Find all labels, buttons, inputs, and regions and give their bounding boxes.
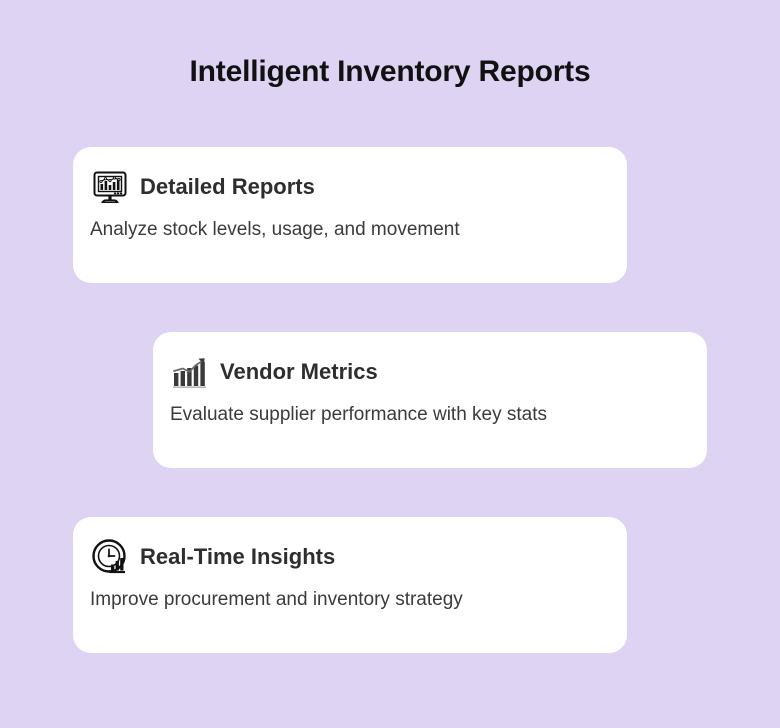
card-description: Improve procurement and inventory strate…	[90, 587, 463, 613]
card-description: Analyze stock levels, usage, and movemen…	[90, 217, 460, 243]
card-title: Real-Time Insights	[140, 543, 335, 571]
feature-card-detailed-reports[interactable]: Detailed Reports Analyze stock levels, u…	[73, 147, 627, 283]
rising-bar-chart-arrow-icon	[170, 352, 210, 392]
card-title: Detailed Reports	[140, 173, 315, 201]
card-description: Evaluate supplier performance with key s…	[170, 402, 547, 428]
page-title: Intelligent Inventory Reports	[0, 52, 780, 92]
feature-card-real-time-insights[interactable]: Real-Time Insights Improve procurement a…	[73, 517, 627, 653]
card-header: Real-Time Insights	[90, 537, 335, 577]
card-header: Detailed Reports	[90, 167, 315, 207]
feature-card-vendor-metrics[interactable]: Vendor Metrics Evaluate supplier perform…	[153, 332, 707, 468]
reports-feature-page: Intelligent Inventory Reports	[0, 0, 780, 728]
card-header: Vendor Metrics	[170, 352, 378, 392]
card-title: Vendor Metrics	[220, 358, 378, 386]
monitor-bar-chart-icon	[90, 167, 130, 207]
clock-bar-chart-icon	[90, 537, 130, 577]
